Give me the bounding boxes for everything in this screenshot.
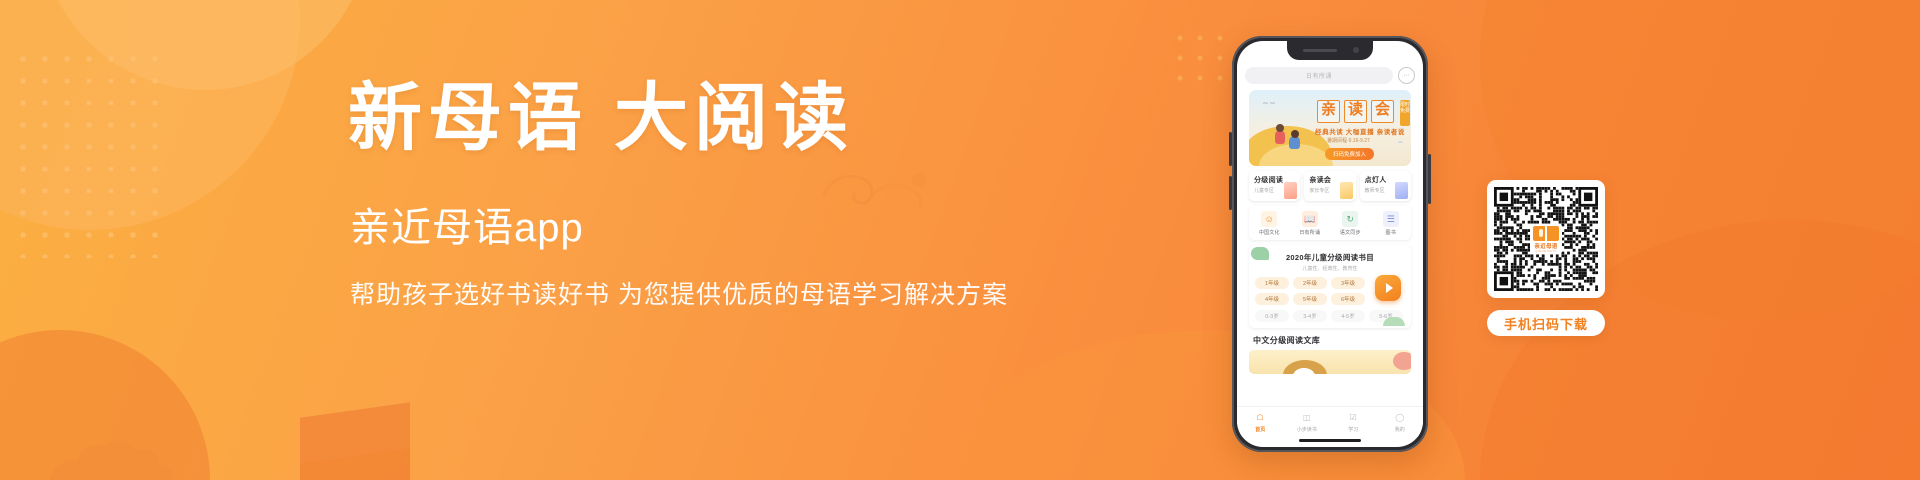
- person-icon: [1395, 182, 1408, 199]
- tab-home[interactable]: ☖ 首页: [1237, 411, 1284, 433]
- promo-banner: 新母语大阅读 亲近母语app 帮助孩子选好书读好书 为您提供优质的母语学习解决方…: [0, 0, 1920, 480]
- hero-child-red: [1275, 130, 1285, 144]
- phone-notch: [1287, 41, 1373, 60]
- decor-dot-grid-right: [1170, 28, 1230, 88]
- decor-cloud-icon: [40, 420, 200, 480]
- tab-label: 我的: [1377, 426, 1424, 433]
- hero-date: 暑期阅程·9.16-9.27: [1327, 137, 1370, 144]
- hero-title-char: 读: [1344, 100, 1367, 123]
- quick-link-books[interactable]: ☰ 图书: [1371, 211, 1412, 236]
- qr-card: 亲近母语 QINJIN MUYU: [1487, 180, 1605, 298]
- lantern-icon: ☺: [1261, 211, 1277, 227]
- tab-label: 学习: [1330, 426, 1377, 433]
- qr-code: 亲近母语 QINJIN MUYU: [1494, 187, 1598, 291]
- phone-speaker: [1303, 49, 1337, 52]
- hero-subtitle: 经典共读 大咖直播 亲读者说: [1315, 126, 1405, 136]
- booklist-subtitle: 儿童性、经典性、教育性: [1255, 265, 1405, 272]
- tab-profile[interactable]: ◯ 我的: [1377, 411, 1424, 433]
- quick-link-sync-lessons[interactable]: ↻ 语文同步: [1330, 211, 1371, 236]
- grade-chip[interactable]: 5年级: [1293, 293, 1327, 305]
- download-button[interactable]: 手机扫码下载: [1487, 310, 1605, 336]
- tab-label: 小步读书: [1284, 426, 1331, 433]
- clipboard-check-icon: ☑: [1347, 411, 1360, 424]
- booklist-module: 2020年儿童分级阅读书目 儿童性、经典性、教育性 1年级 2年级 3年级 4年…: [1249, 245, 1411, 328]
- quick-link-label: 语文同步: [1330, 229, 1371, 236]
- hero-child-blue: [1289, 136, 1300, 149]
- book-open-icon: 📖: [1302, 211, 1318, 227]
- app-searchbar: 日有所诵 ⋯: [1245, 67, 1415, 84]
- brand-logo: 亲近母语 QINJIN MUYU: [1530, 224, 1562, 254]
- phone-power-button: [1428, 154, 1431, 204]
- age-chip[interactable]: 0-3岁: [1255, 310, 1289, 322]
- bird-icon: ∾∾: [1263, 100, 1277, 107]
- hero-ribbon: 限时免费: [1400, 100, 1410, 126]
- headline-part-2: 大阅读: [614, 78, 854, 160]
- app-hero-banner[interactable]: ∾∾ 亲 读 会 限时免费 经典共读 大咖直播 亲读者说 暑期阅程·9.16-9…: [1249, 90, 1411, 166]
- quick-link-label: 图书: [1371, 229, 1412, 236]
- hero-join-button[interactable]: 扫码免费加入: [1325, 148, 1374, 160]
- refresh-icon: ↻: [1342, 211, 1358, 227]
- brand-pinyin: QINJIN MUYU: [1535, 250, 1556, 253]
- banner-copy: 新母语大阅读 亲近母语app 帮助孩子选好书读好书 为您提供优质的母语学习解决方…: [348, 82, 1008, 310]
- tab-reading[interactable]: ◫ 小步读书: [1284, 411, 1331, 433]
- phone-mockup: 日有所诵 ⋯ ∾∾ 亲 读 会 限时免费 经典共读 大: [1232, 36, 1428, 452]
- video-play-icon[interactable]: [1375, 275, 1401, 301]
- book-stack-icon: [1284, 182, 1297, 199]
- decor-dot-grid-left: [12, 48, 162, 258]
- note-icon: [1340, 182, 1353, 199]
- headline-part-1: 新母语: [348, 78, 588, 160]
- hero-title-char: 亲: [1317, 100, 1340, 123]
- cloud-icon: ☁: [1397, 138, 1403, 145]
- phone-screen: 日有所诵 ⋯ ∾∾ 亲 读 会 限时免费 经典共读 大: [1237, 41, 1423, 447]
- quick-link-label: 中国文化: [1249, 229, 1290, 236]
- home-indicator: [1299, 439, 1361, 442]
- book-logo-icon: [1533, 226, 1559, 241]
- decor-cube: [300, 402, 410, 480]
- grade-chip[interactable]: 3年级: [1331, 277, 1365, 289]
- phone-camera: [1353, 47, 1359, 53]
- decor-circle-bottom-left: [0, 330, 210, 480]
- entry-card-parent-club[interactable]: 亲读会 家长专区: [1304, 171, 1355, 201]
- book-icon: ☰: [1383, 211, 1399, 227]
- decor-cube-highlight: [300, 402, 410, 463]
- hero-title-char: 会: [1371, 100, 1394, 123]
- library-banner[interactable]: [1249, 350, 1411, 374]
- quick-link-label: 日有所诵: [1290, 229, 1331, 236]
- age-chip[interactable]: 3-4岁: [1293, 310, 1327, 322]
- app-tabbar: ☖ 首页 ◫ 小步读书 ☑ 学习 ◯ 我的: [1237, 406, 1423, 437]
- library-section-title: 中文分级阅读文库: [1253, 335, 1415, 346]
- home-icon: ☖: [1254, 411, 1267, 424]
- entry-card-row: 分级阅读 儿童专区 亲读会 家长专区 点灯人 教师专区: [1249, 171, 1411, 201]
- qr-panel: 亲近母语 QINJIN MUYU 手机扫码下载: [1487, 180, 1605, 336]
- entry-card-teacher[interactable]: 点灯人 教师专区: [1360, 171, 1411, 201]
- notebook-icon: ◫: [1300, 411, 1313, 424]
- banner-tagline: 帮助孩子选好书读好书 为您提供优质的母语学习解决方案: [350, 280, 1008, 310]
- booklist-title: 2020年儿童分级阅读书目: [1255, 252, 1405, 263]
- tab-label: 首页: [1237, 426, 1284, 433]
- decor-circle-top-left-2: [40, 0, 370, 90]
- age-chip[interactable]: 4-5岁: [1331, 310, 1365, 322]
- grade-chip[interactable]: 4年级: [1255, 293, 1289, 305]
- quick-link-daily-recite[interactable]: 📖 日有所诵: [1290, 211, 1331, 236]
- search-input[interactable]: 日有所诵: [1245, 67, 1393, 84]
- booklist-grade-chips: 1年级 2年级 3年级 4年级 5年级 6年级: [1255, 277, 1377, 305]
- chat-dots-icon[interactable]: ⋯: [1398, 67, 1415, 84]
- user-circle-icon: ◯: [1393, 411, 1406, 424]
- brand-name: 亲近母语: [1534, 242, 1557, 250]
- decor-blob: [1393, 352, 1411, 370]
- leaf-icon: [1383, 317, 1405, 326]
- quick-link-chinese-culture[interactable]: ☺ 中国文化: [1249, 211, 1290, 236]
- decor-circle-top-left: [0, 0, 300, 230]
- entry-card-graded-reading[interactable]: 分级阅读 儿童专区: [1249, 171, 1300, 201]
- tab-study[interactable]: ☑ 学习: [1330, 411, 1377, 433]
- grade-chip[interactable]: 2年级: [1293, 277, 1327, 289]
- quick-link-row: ☺ 中国文化 📖 日有所诵 ↻ 语文同步 ☰ 图书: [1249, 206, 1411, 240]
- leaf-icon: [1251, 247, 1269, 260]
- grade-chip[interactable]: 6年级: [1331, 293, 1365, 305]
- grade-chip[interactable]: 1年级: [1255, 277, 1289, 289]
- app-name-subtitle: 亲近母语app: [350, 208, 1008, 248]
- hero-title: 亲 读 会 限时免费: [1317, 100, 1410, 126]
- page-title: 新母语大阅读: [348, 82, 1008, 156]
